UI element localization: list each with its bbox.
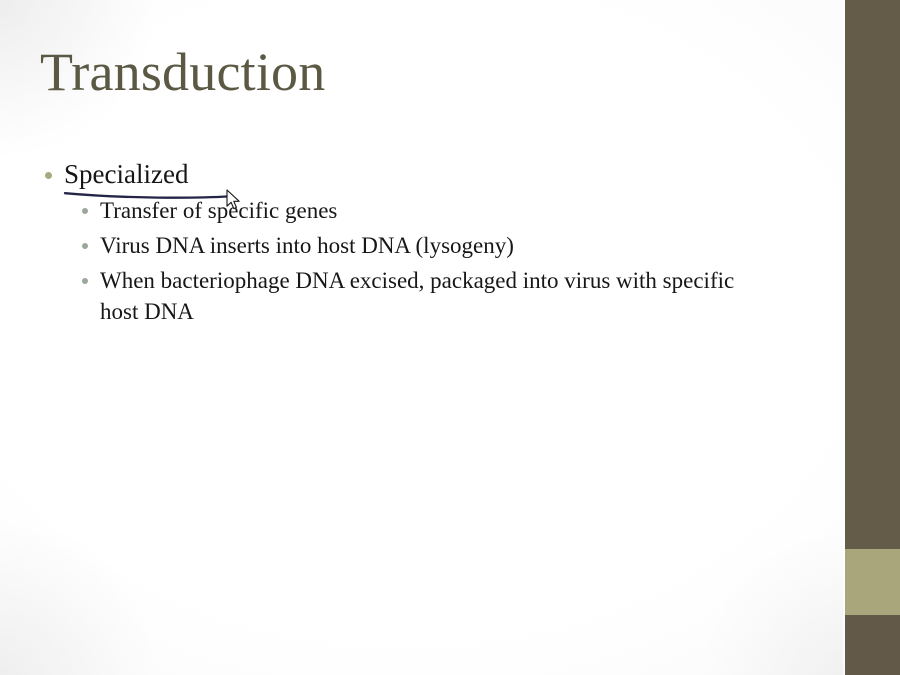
bullet-level2-item: Transfer of specific genes: [78, 196, 782, 227]
slide-body-content: Specialized Transfer of specific genes V…: [42, 158, 782, 332]
bullet-dot-icon: [82, 278, 88, 284]
bullet-level2-item: Virus DNA inserts into host DNA (lysogen…: [78, 231, 782, 262]
bullet-level2-group: Transfer of specific genes Virus DNA ins…: [78, 196, 782, 327]
sidebar-band-upper-brown: [845, 0, 900, 549]
bullet-level2-label: When bacteriophage DNA excised, packaged…: [100, 266, 772, 328]
bullet-level2-label: Virus DNA inserts into host DNA (lysogen…: [100, 231, 514, 262]
sidebar-band-lower-brown: [845, 615, 900, 675]
bullet-level1-label: Specialized: [64, 158, 188, 190]
slide-decorative-sidebar: [845, 0, 900, 675]
bullet-dot-icon: [45, 172, 52, 179]
bullet-dot-icon: [82, 208, 88, 214]
slide-title: Transduction: [40, 44, 325, 101]
bullet-level2-label: Transfer of specific genes: [100, 196, 337, 227]
bullet-level2-item: When bacteriophage DNA excised, packaged…: [78, 266, 782, 328]
bullet-level1-specialized: Specialized: [42, 158, 782, 190]
bullet-dot-icon: [82, 243, 88, 249]
presentation-slide: Transduction Specialized Transfer of spe…: [0, 0, 900, 675]
sidebar-band-khaki-accent: [845, 549, 900, 615]
